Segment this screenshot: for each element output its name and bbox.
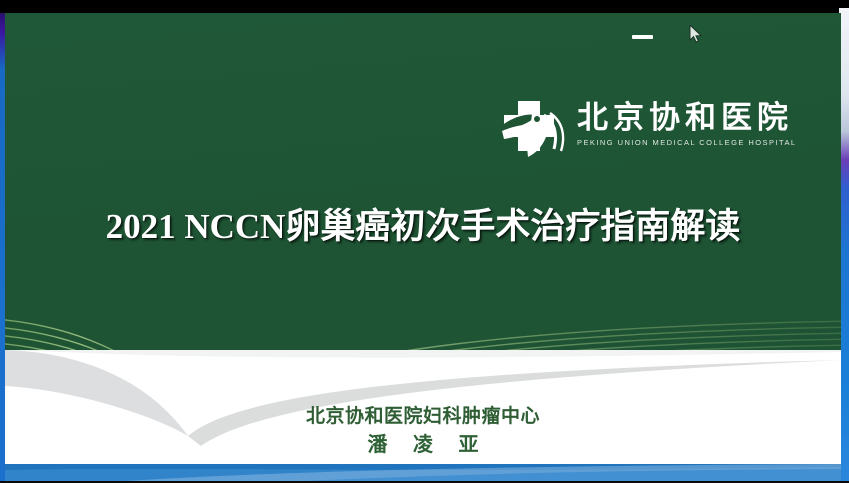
slide-title: 2021 NCCN卵巢癌初次手术治疗指南解读: [5, 198, 841, 249]
minimize-button[interactable]: [632, 35, 653, 39]
presenter-organization: 北京协和医院妇科肿瘤中心: [5, 405, 841, 430]
window-top-letterbox: [0, 0, 849, 13]
logo-text-block: 北京协和医院 PEKING UNION MEDICAL COLLEGE HOSP…: [577, 97, 797, 147]
blue-footer-band: [5, 464, 841, 481]
cross-dove-emblem-icon: [492, 97, 568, 163]
hospital-logo: 北京协和医院 PEKING UNION MEDICAL COLLEGE HOSP…: [492, 97, 797, 163]
logo-chinese-name: 北京协和医院: [577, 101, 797, 134]
presenter-name: 潘 凌 亚: [5, 432, 841, 459]
mouse-pointer-icon: [689, 25, 703, 43]
logo-english-name: PEKING UNION MEDICAL COLLEGE HOSPITAL: [577, 138, 797, 147]
presenter-block: 北京协和医院妇科肿瘤中心 潘 凌 亚: [5, 405, 841, 459]
video-player-screen: 北京协和医院 PEKING UNION MEDICAL COLLEGE HOSP…: [0, 0, 849, 483]
presentation-slide[interactable]: 北京协和医院 PEKING UNION MEDICAL COLLEGE HOSP…: [5, 13, 841, 481]
